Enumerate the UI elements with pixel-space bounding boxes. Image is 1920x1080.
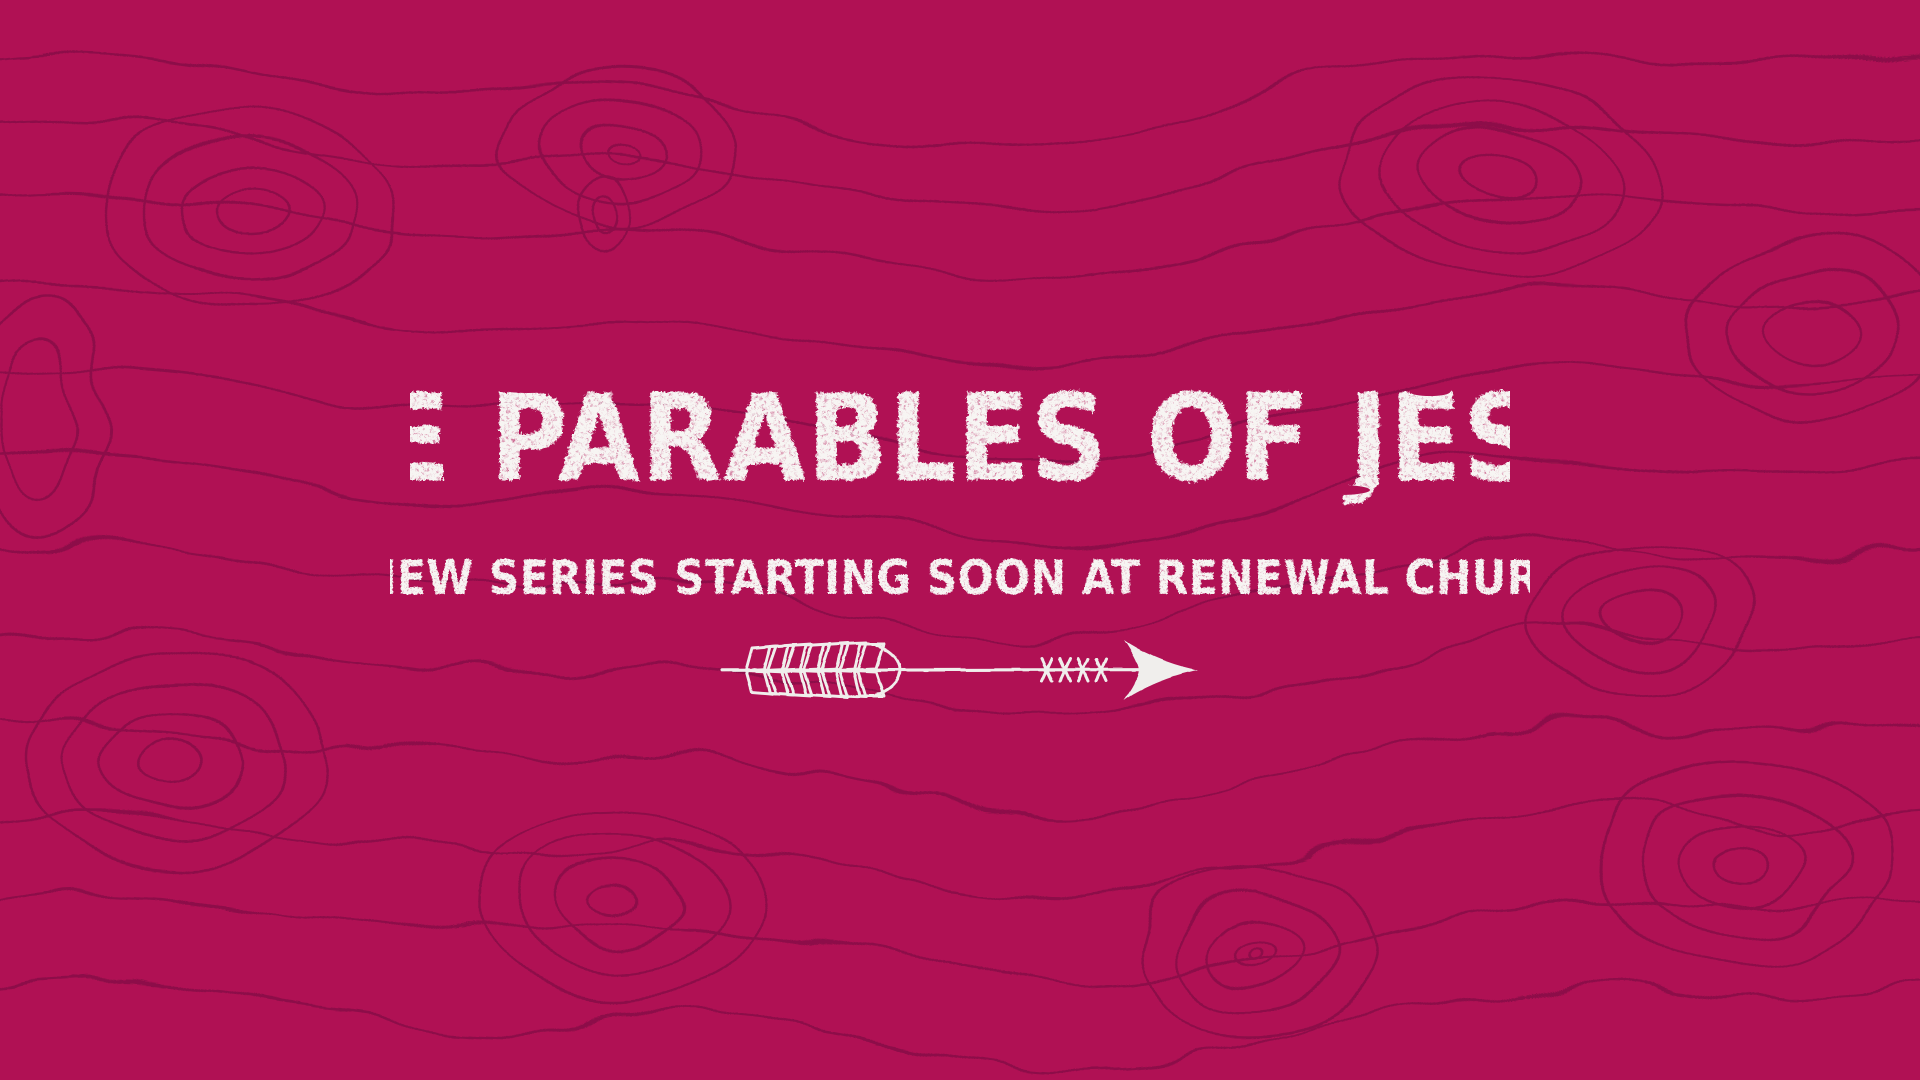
arrow-icon <box>722 640 1198 700</box>
poster-canvas: THE PARABLES OF JESUS <box>0 0 1920 1080</box>
subtitle-text: A NEW SERIES STARTING SOON AT RENEWAL CH… <box>390 551 1530 606</box>
page-title: THE PARABLES OF JESUS <box>0 366 1920 506</box>
arrow-fletching-upper <box>746 643 884 670</box>
content-stack: THE PARABLES OF JESUS <box>0 0 1920 1080</box>
arrow-fletching-lower <box>746 671 884 698</box>
page-subtitle: A NEW SERIES STARTING SOON AT RENEWAL CH… <box>0 546 1920 608</box>
headline-text: THE PARABLES OF JESUS <box>410 369 1510 506</box>
arrow-divider-ornament <box>0 628 1920 712</box>
